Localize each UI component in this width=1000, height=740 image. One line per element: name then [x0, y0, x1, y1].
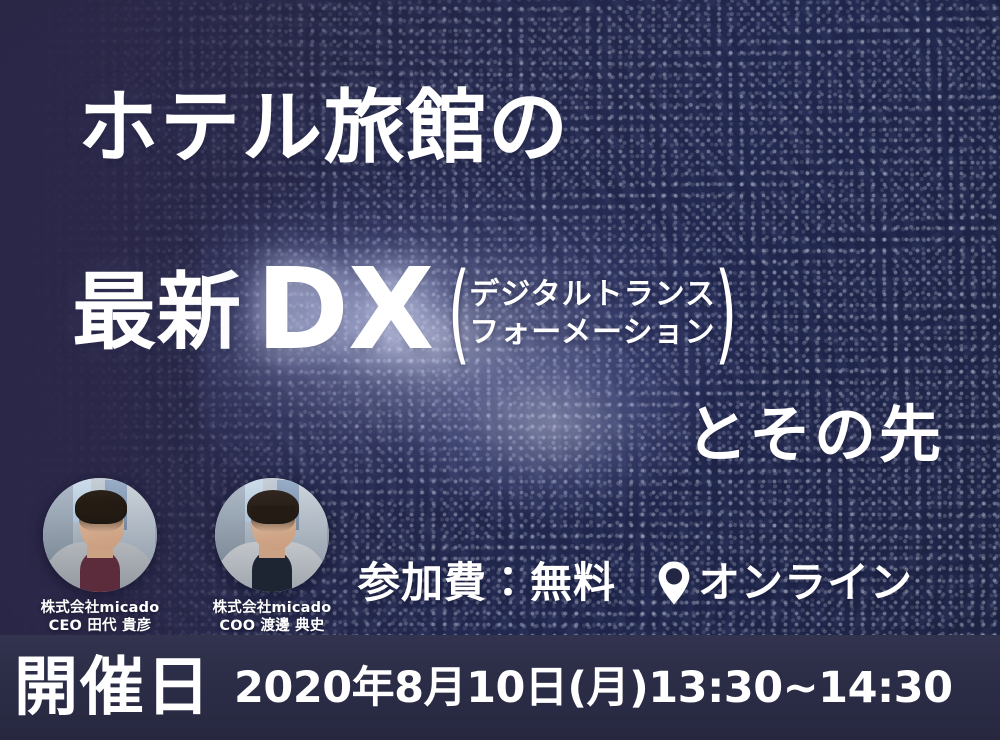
speaker-company: 株式会社micado [41, 599, 160, 617]
speaker-item: 株式会社micado CEO 田代 貴彦 [26, 478, 174, 635]
location-label: オンライン [698, 562, 913, 604]
annotation-open-paren: ( [448, 267, 470, 360]
title-prefix-latest: 最新 [72, 270, 242, 354]
speaker-photo-ceo [43, 478, 157, 592]
fee-text: 参加費：無料 [358, 562, 616, 604]
annotation-text: デジタルトランス フォーメーション [469, 274, 716, 353]
annotation-line-1: デジタルトランス [469, 276, 716, 314]
title-line-3: とその先 [686, 404, 944, 466]
speaker-role-name: COO 渡邊 典史 [213, 617, 332, 635]
annotation-close-paren: ) [715, 267, 737, 360]
photo-hair [247, 490, 299, 524]
title-line-1: ホテル旅館の [78, 88, 570, 168]
map-pin-icon [656, 560, 692, 606]
date-label: 開催日 [14, 656, 212, 720]
annotation-line-2: フォーメーション [469, 314, 716, 352]
speaker-role-name: CEO 田代 貴彦 [41, 617, 160, 635]
photo-hair [75, 490, 127, 524]
speaker-caption: 株式会社micado COO 渡邊 典史 [213, 599, 332, 635]
speaker-photo-coo [215, 478, 329, 592]
speaker-list: 株式会社micado CEO 田代 貴彦 株式会社micado COO 渡邊 典… [26, 478, 346, 635]
location-group: オンライン [656, 560, 913, 606]
webinar-banner: ホテル旅館の 最新 DX ( デジタルトランス フォーメーション ) とその先 [0, 0, 1000, 740]
date-bar: 開催日 2020年8月10日(月)13:30~14:30 [0, 635, 1000, 740]
title-keyword-dx: DX [256, 254, 433, 366]
speaker-item: 株式会社micado COO 渡邊 典史 [198, 478, 346, 635]
info-row: 参加費：無料 オンライン [358, 560, 913, 606]
speaker-caption: 株式会社micado CEO 田代 貴彦 [41, 599, 160, 635]
title-annotation: ( デジタルトランス フォーメーション ) [441, 274, 744, 353]
speaker-company: 株式会社micado [213, 599, 332, 617]
title-line-2: 最新 DX ( デジタルトランス フォーメーション ) [72, 258, 744, 366]
date-value: 2020年8月10日(月)13:30~14:30 [234, 667, 953, 710]
